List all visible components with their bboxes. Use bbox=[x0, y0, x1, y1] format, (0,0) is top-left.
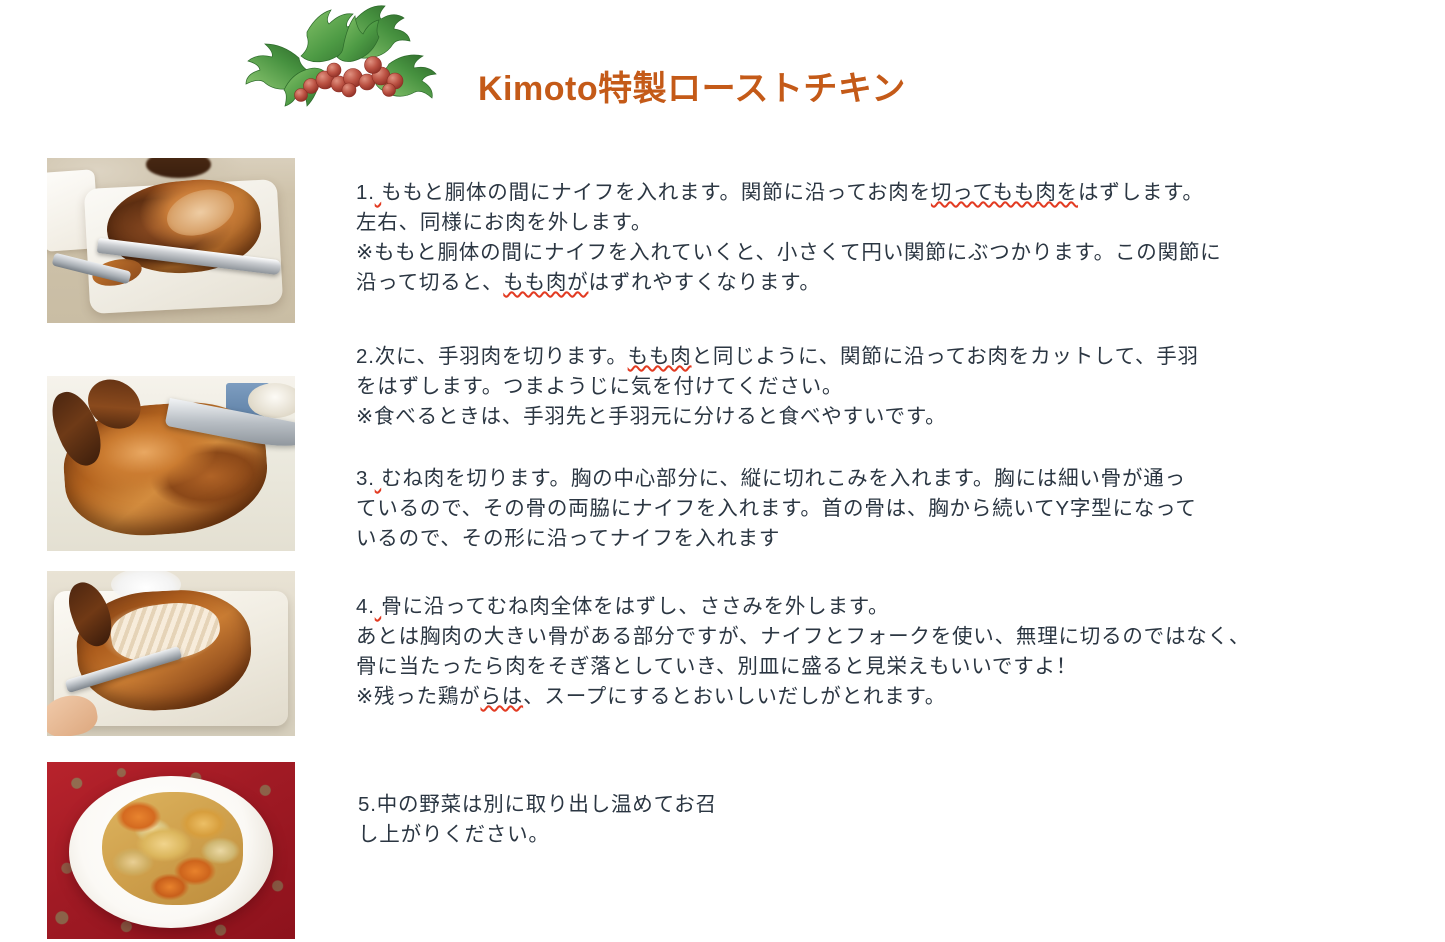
instruction-text: 2.次に、手羽肉を切ります。 bbox=[356, 345, 628, 368]
spellcheck-text: 切ってもも肉を bbox=[931, 181, 1078, 204]
instruction-text: ※ももと胴体の間にナイフを入れていくと、小さくて円い関節にぶつかります。この関節… bbox=[356, 241, 1221, 264]
photo-2-bowl bbox=[248, 383, 295, 418]
step-photo-4 bbox=[47, 762, 295, 939]
instruction-text: はずします。 bbox=[1078, 181, 1204, 204]
instruction-line: 5.中の野菜は別に取り出し温めてお召 bbox=[358, 790, 717, 820]
instruction-line: 左右、同様にお肉を外します。 bbox=[356, 208, 1221, 238]
spellcheck-text: もも肉が bbox=[503, 271, 588, 294]
instruction-text: ももと胴体の間にナイフを入れます。関節に沿ってお肉を bbox=[381, 181, 931, 204]
instruction-line: ているので、その骨の両脇にナイフを入れます。首の骨は、胸から続いてY字型になって bbox=[356, 494, 1197, 524]
instruction-text: ※残った鶏が bbox=[356, 685, 480, 708]
instruction-step-1: 1. ももと胴体の間にナイフを入れます。関節に沿ってお肉を切ってもも肉をはずしま… bbox=[356, 178, 1221, 298]
instruction-step-2: 2.次に、手羽肉を切ります。もも肉と同じように、関節に沿ってお肉をカットして、手… bbox=[356, 342, 1199, 432]
instruction-text: 3. bbox=[356, 467, 375, 490]
instruction-line: 2.次に、手羽肉を切ります。もも肉と同じように、関節に沿ってお肉をカットして、手… bbox=[356, 342, 1199, 372]
instruction-line: ※ももと胴体の間にナイフを入れていくと、小さくて円い関節にぶつかります。この関節… bbox=[356, 238, 1221, 268]
instruction-text: 1. bbox=[356, 181, 375, 204]
instruction-line: し上がりください。 bbox=[358, 820, 717, 850]
instruction-line: いるので、その形に沿ってナイフを入れます bbox=[356, 524, 1197, 554]
instruction-line: ※食べるときは、手羽先と手羽元に分けると食べやすいです。 bbox=[356, 402, 1199, 432]
instruction-step-3: 3. むね肉を切ります。胸の中心部分に、縦に切れこみを入れます。胸には細い骨が通… bbox=[356, 464, 1197, 554]
instruction-text: むね肉を切ります。胸の中心部分に、縦に切れこみを入れます。胸には細い骨が通っ bbox=[381, 467, 1186, 490]
step-photo-2 bbox=[47, 376, 295, 551]
instruction-step-4: 4. 骨に沿ってむね肉全体をはずし、ささみを外します。あとは胸肉の大きい骨がある… bbox=[356, 592, 1250, 712]
instruction-text: いるので、その形に沿ってナイフを入れます bbox=[356, 527, 780, 550]
spellcheck-text: らは bbox=[480, 685, 523, 708]
instruction-text: 5.中の野菜は別に取り出し温めてお召 bbox=[358, 793, 717, 816]
instruction-text: ているので、その骨の両脇にナイフを入れます。首の骨は、胸から続いてY字型になって bbox=[356, 497, 1197, 520]
instruction-text: 左右、同様にお肉を外します。 bbox=[356, 211, 652, 234]
step-photo-3 bbox=[47, 571, 295, 736]
document-page: Kimoto特製ローストチキン bbox=[0, 0, 1445, 942]
photo-4-vegetables bbox=[102, 792, 243, 905]
instruction-line: 骨に当たったら肉をそぎ落としていき、別皿に盛ると見栄えもいいですよ！ bbox=[356, 652, 1250, 682]
photo-4-content bbox=[47, 762, 295, 939]
instruction-text: ※食べるときは、手羽先と手羽元に分けると食べやすいです。 bbox=[356, 405, 946, 428]
instruction-line: 1. ももと胴体の間にナイフを入れます。関節に沿ってお肉を切ってもも肉をはずしま… bbox=[356, 178, 1221, 208]
photo-1-content bbox=[47, 158, 295, 323]
step-photo-1 bbox=[47, 158, 295, 323]
instruction-line: 3. むね肉を切ります。胸の中心部分に、縦に切れこみを入れます。胸には細い骨が通… bbox=[356, 464, 1197, 494]
instruction-step-5: 5.中の野菜は別に取り出し温めてお召し上がりください。 bbox=[358, 790, 717, 850]
photo-3-content bbox=[47, 571, 295, 736]
instruction-line: ※残った鶏がらは、スープにするとおいしいだしがとれます。 bbox=[356, 682, 1250, 712]
instruction-text: と同じように、関節に沿ってお肉をカットして、手羽 bbox=[692, 345, 1199, 368]
photo-2-content bbox=[47, 376, 295, 551]
instruction-text: をはずします。つまようじに気を付けてください。 bbox=[356, 375, 843, 398]
instruction-text: 沿って切ると、 bbox=[356, 271, 503, 294]
instruction-text: はずれやすくなります。 bbox=[588, 271, 820, 294]
instruction-text: 骨に沿ってむね肉全体をはずし、ささみを外します。 bbox=[381, 595, 889, 618]
instruction-text: 、スープにするとおいしいだしがとれます。 bbox=[523, 685, 946, 708]
instruction-line: あとは胸肉の大きい骨がある部分ですが、ナイフとフォークを使い、無理に切るのではな… bbox=[356, 622, 1250, 652]
document-header: Kimoto特製ローストチキン bbox=[0, 0, 1445, 150]
instruction-line: をはずします。つまようじに気を付けてください。 bbox=[356, 372, 1199, 402]
page-title: Kimoto特製ローストチキン bbox=[478, 71, 906, 108]
holly-decoration-icon bbox=[203, 2, 461, 144]
spellcheck-text: もも肉 bbox=[628, 345, 692, 368]
instruction-line: 4. 骨に沿ってむね肉全体をはずし、ささみを外します。 bbox=[356, 592, 1250, 622]
instruction-line: 沿って切ると、もも肉がはずれやすくなります。 bbox=[356, 268, 1221, 298]
instruction-text: あとは胸肉の大きい骨がある部分ですが、ナイフとフォークを使い、無理に切るのではな… bbox=[356, 625, 1250, 648]
instruction-text: 骨に当たったら肉をそぎ落としていき、別皿に盛ると見栄えもいいですよ！ bbox=[356, 655, 1077, 678]
instruction-text: し上がりください。 bbox=[358, 823, 550, 846]
instruction-text: 4. bbox=[356, 595, 375, 618]
